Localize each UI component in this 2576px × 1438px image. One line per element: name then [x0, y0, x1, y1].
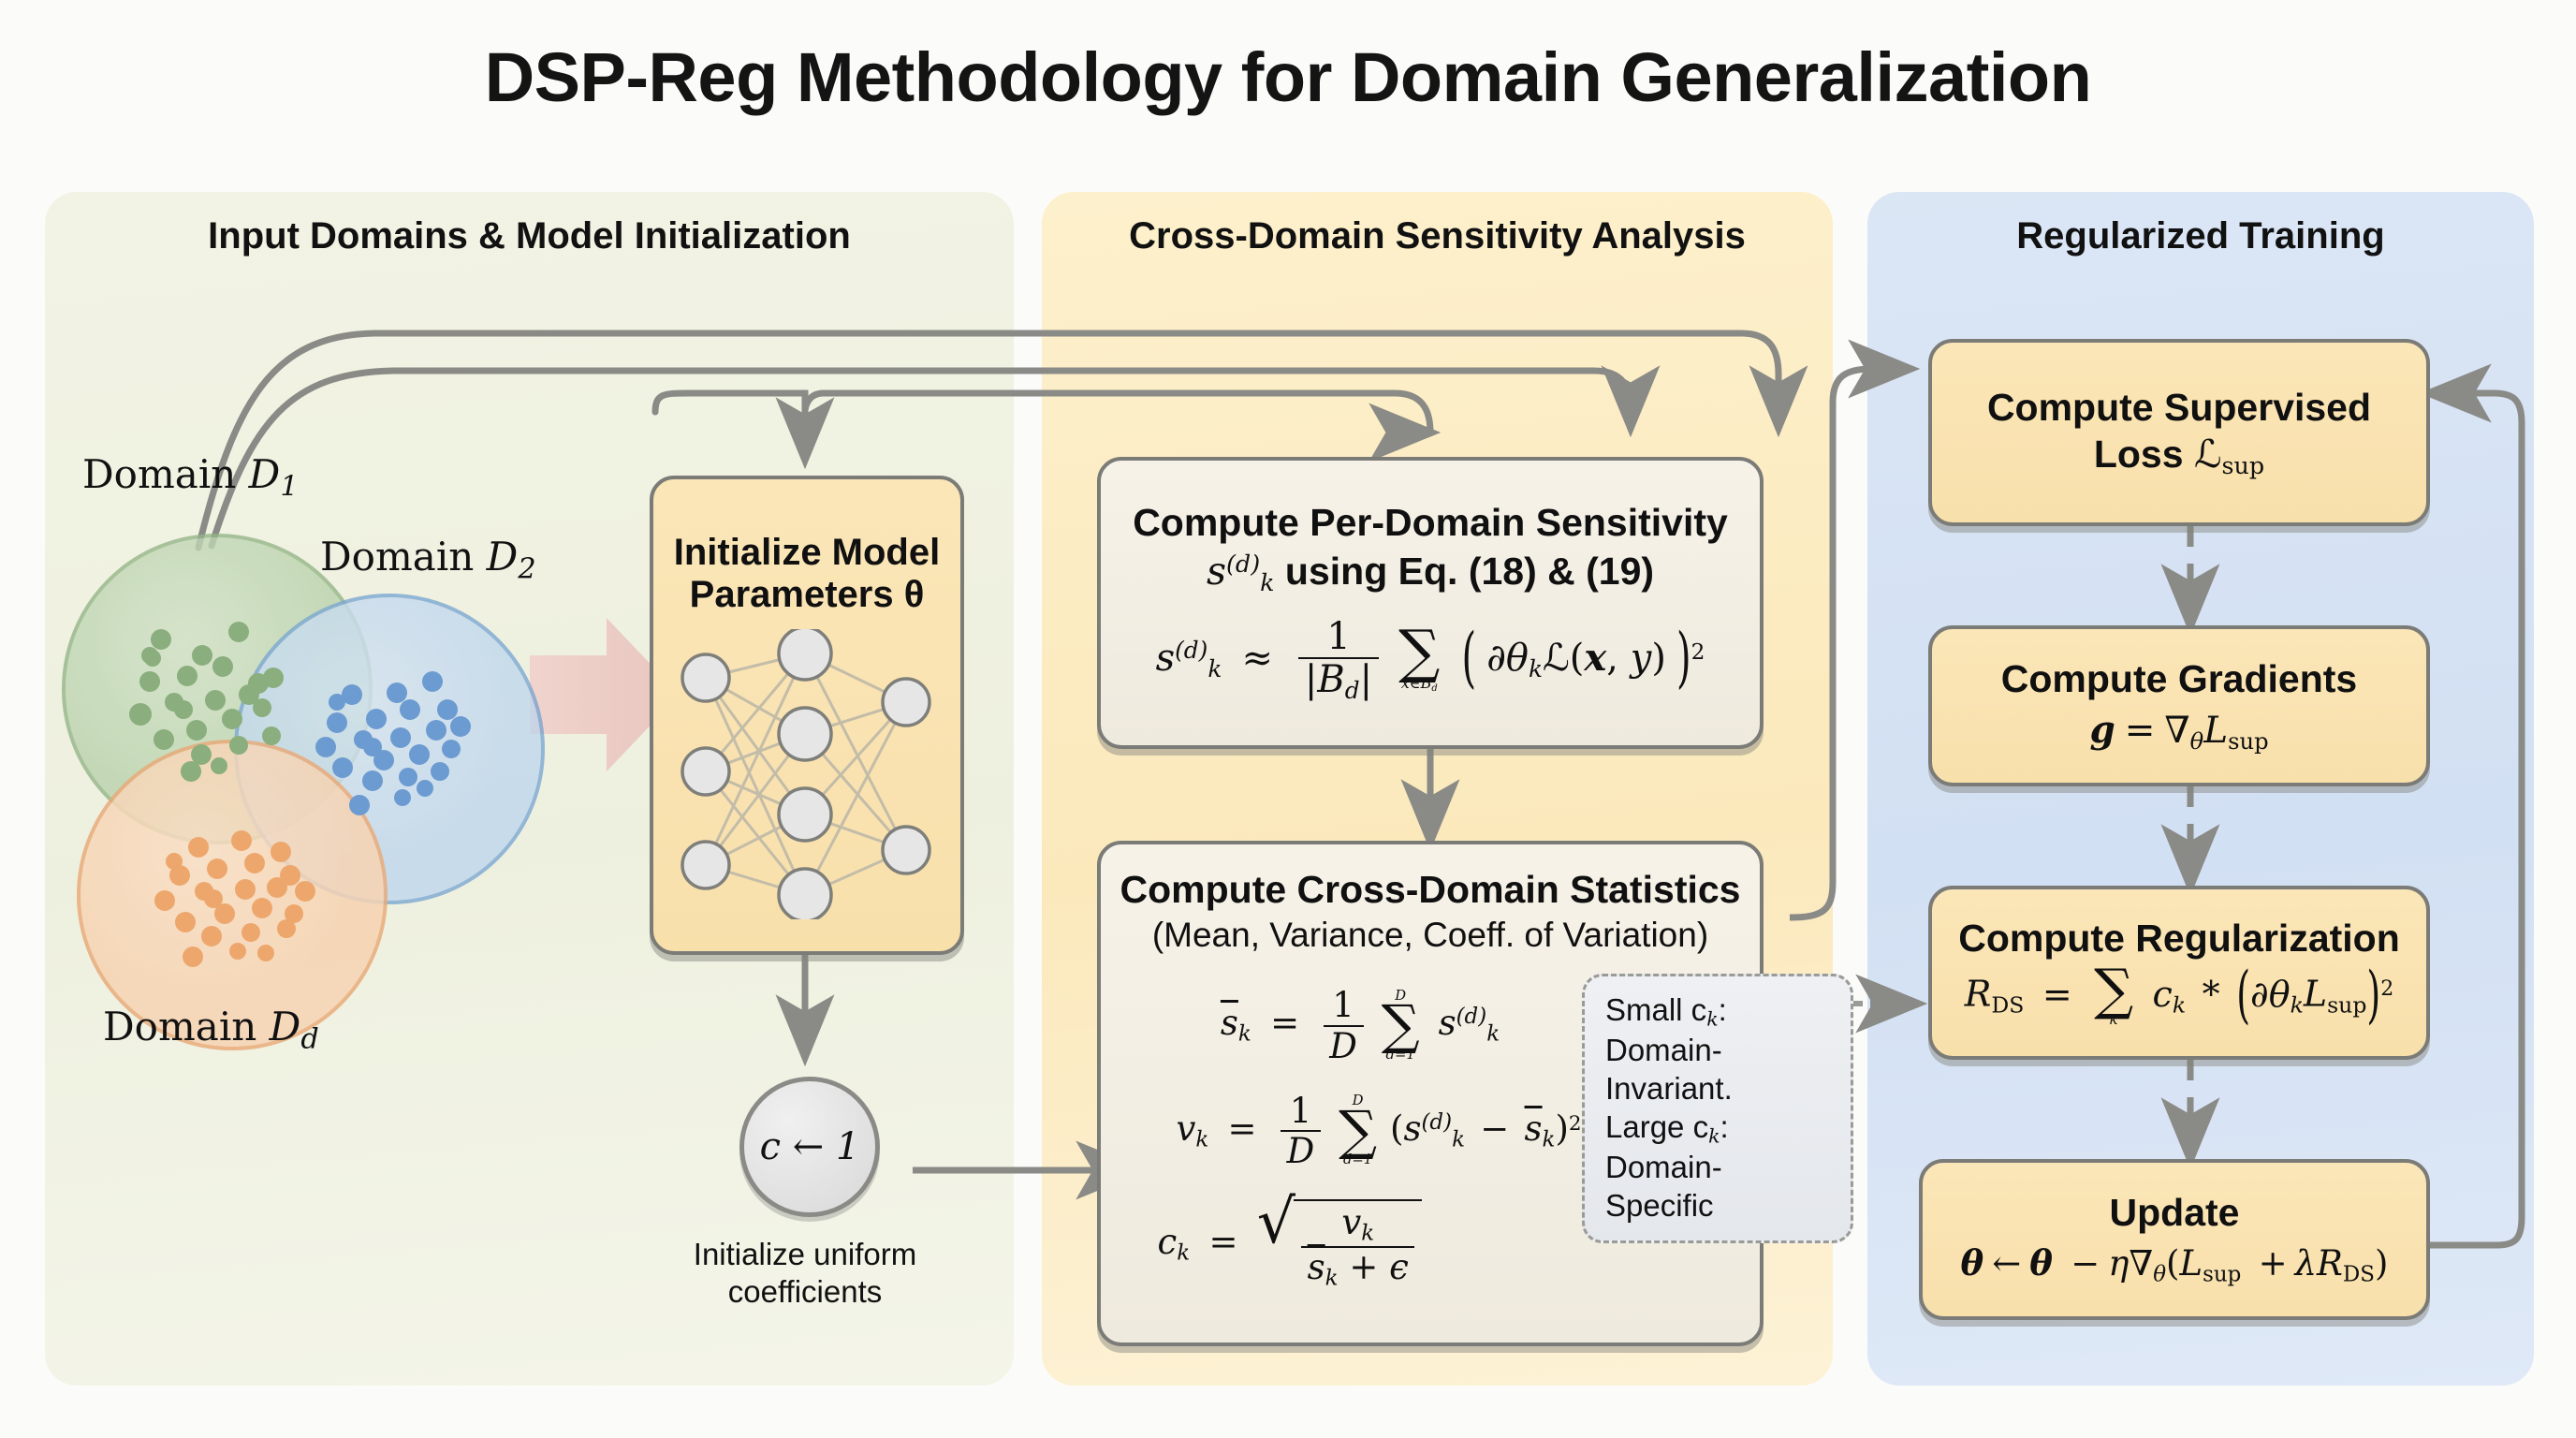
tooltip-line2: Domain-Invariant.	[1605, 1032, 1830, 1108]
domain-label-d2: Domain D2	[320, 534, 536, 585]
initialize-model-box[interactable]: Initialize Model Parameters θ	[650, 476, 964, 955]
sensitivity-subtitle-rest: using Eq. (18) & (19)	[1285, 550, 1654, 593]
compute-sensitivity-box[interactable]: Compute Per-Domain Sensitivity s(d)k usi…	[1097, 457, 1764, 749]
tooltip-line4: Domain-Specific	[1605, 1149, 1830, 1225]
update-title: Update	[2110, 1192, 2240, 1235]
statistics-equation-variance: vk = 1D D∑d=1 (s(d)k − sk)2	[1176, 1093, 1581, 1169]
sensitivity-subtitle: s(d)k using Eq. (18) & (19)	[1207, 550, 1654, 596]
panel-header-input-domains: Input Domains & Model Initialization	[45, 215, 1014, 257]
tooltip-line3: Large ck:	[1605, 1108, 1830, 1149]
regularization-title: Compute Regularization	[1958, 917, 2400, 961]
diagram-canvas: DSP-Reg Methodology for Domain Generaliz…	[0, 0, 2576, 1438]
regularization-equation: RDS = ∑k ck * (∂θkLsup)2	[1965, 966, 2394, 1027]
coefficient-caption-line1: Initialize uniform	[655, 1236, 955, 1273]
compute-regularization-box[interactable]: Compute Regularization RDS = ∑k ck * (∂θ…	[1928, 886, 2430, 1060]
panel-header-sensitivity: Cross-Domain Sensitivity Analysis	[1042, 215, 1833, 257]
statistics-equation-mean: sk = 1D D∑d=1 s(d)k	[1221, 987, 1500, 1064]
coefficient-init-caption: Initialize uniform coefficients	[655, 1236, 955, 1312]
gradients-title: Compute Gradients	[2001, 658, 2357, 701]
update-equation: θ←θ −η∇θ(Lsup +λRDS)	[1961, 1242, 2389, 1286]
domain-label-dd: Domain Dd	[103, 1004, 319, 1055]
sensitivity-title: Compute Per-Domain Sensitivity	[1133, 502, 1728, 545]
statistics-equation-cv: ck = √ vk sk + ϵ	[1158, 1199, 1423, 1289]
loss-title-line2: Loss ℒsup	[2094, 433, 2264, 479]
ck-interpretation-tooltip: Small ck: Domain-Invariant. Large ck: Do…	[1582, 974, 1853, 1243]
loss-title-line1: Compute Supervised	[1987, 387, 2371, 430]
initialize-model-title-line2: Parameters θ	[690, 574, 925, 616]
update-box[interactable]: Update θ←θ −η∇θ(Lsup +λRDS)	[1919, 1159, 2430, 1320]
coefficient-caption-line2: coefficients	[655, 1273, 955, 1311]
coefficient-init-circle[interactable]: c ← 1	[739, 1077, 880, 1217]
tooltip-line1: Small ck:	[1605, 991, 1830, 1032]
gradients-equation: g=∇θLsup	[2089, 709, 2268, 755]
panel-header-training: Regularized Training	[1867, 215, 2534, 257]
page-title: DSP-Reg Methodology for Domain Generaliz…	[0, 37, 2576, 117]
statistics-subtitle: (Mean, Variance, Coeff. of Variation)	[1152, 916, 1708, 956]
neural-network-graphic	[666, 629, 947, 919]
compute-supervised-loss-box[interactable]: Compute Supervised Loss ℒsup	[1928, 339, 2430, 526]
compute-gradients-box[interactable]: Compute Gradients g=∇θLsup	[1928, 625, 2430, 786]
initialize-model-title-line1: Initialize Model	[674, 532, 940, 574]
sensitivity-equation: s(d)k ≈ 1|Bd| ∑x∈Bd ( ∂θkℒ(x, y) )2	[1156, 617, 1705, 704]
statistics-title: Compute Cross-Domain Statistics	[1120, 869, 1741, 912]
domain-label-d1: Domain D1	[82, 451, 299, 503]
